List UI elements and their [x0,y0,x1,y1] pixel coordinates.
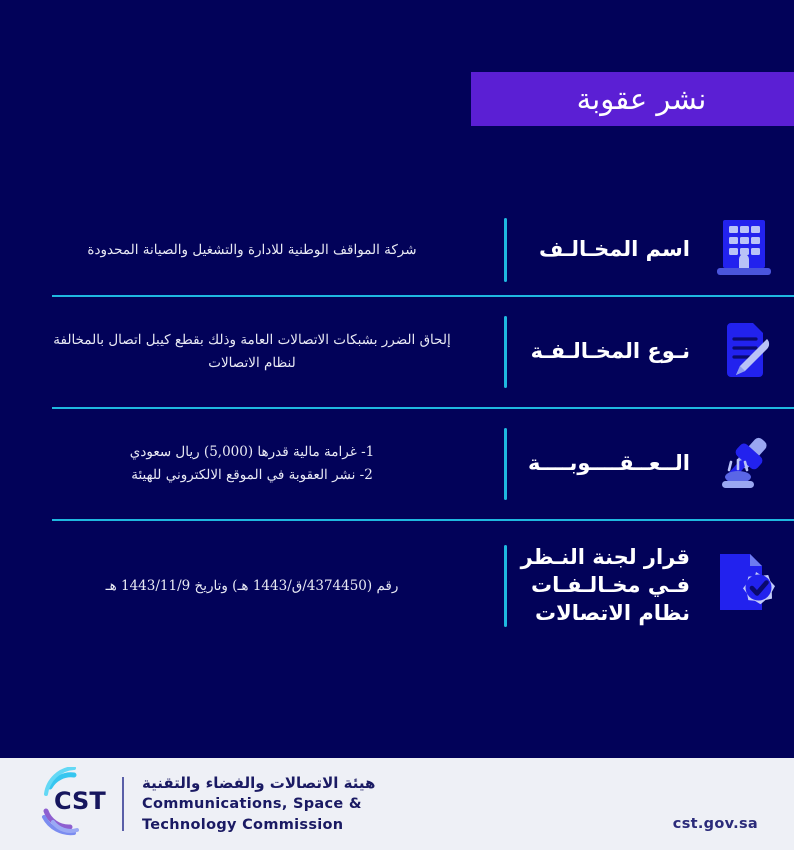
row-value-line: شركة المواقف الوطنية للادارة والتشغيل وا… [87,239,416,262]
row-value-line: 1- غرامة مالية قدرها (5,000) ريال سعودي [130,441,374,464]
title-banner: نشر عقوبة [471,72,794,126]
row-label-cell: قرار لجنة النـظر فـي مخـالـفـات نظام الا… [504,544,694,627]
row-value-cell: إلحاق الضرر بشبكات الاتصالات العامة وذلك… [0,329,504,375]
row-label: اسم المخـالـف [504,236,690,264]
row-value-cell: 1- غرامة مالية قدرها (5,000) ريال سعودي … [0,441,504,487]
table-row: اسم المخـالـف شركة المواقف الوطنية للادا… [0,205,794,295]
row-icon-cell [694,550,794,622]
row-value-line: لنظام الاتصالات [53,352,450,375]
table-row: الــعــقــــوبــــة 1- غرامة مالية قدرها… [0,409,794,519]
row-icon-cell [694,431,794,497]
row-label: قرار لجنة النـظر فـي مخـالـفـات نظام الا… [504,544,690,627]
row-label-cell: نـوع المخـالـفـة [504,338,694,366]
org-name-en-line1: Communications, Space & [142,794,375,815]
footer-logo: CST هيئة الاتصالات والفضاء والتقنية Comm… [30,767,375,841]
table-row: قرار لجنة النـظر فـي مخـالـفـات نظام الا… [0,521,794,651]
row-value-cell: شركة المواقف الوطنية للادارة والتشغيل وا… [0,239,504,262]
table-row: نـوع المخـالـفـة إلحاق الضرر بشبكات الات… [0,297,794,407]
detail-rows: اسم المخـالـف شركة المواقف الوطنية للادا… [0,205,794,653]
row-value-line: رقم (4374450/ق/1443 هـ) وتاريخ 1443/11/9… [106,575,399,598]
row-icon-cell [694,218,794,282]
cst-logo-text: CST [54,787,106,815]
row-label-cell: اسم المخـالـف [504,236,694,264]
penalty-poster: نشر عقوبة [0,0,794,850]
org-name-en-line2: Technology Commission [142,815,375,836]
org-name-ar: هيئة الاتصالات والفضاء والتقنية [142,773,375,795]
row-value-cell: رقم (4374450/ق/1443 هـ) وتاريخ 1443/11/9… [0,575,504,598]
row-label: نـوع المخـالـفـة [504,338,690,366]
footer-website-url[interactable]: cst.gov.sa [673,816,758,832]
footer-divider [122,777,124,831]
row-value: شركة المواقف الوطنية للادارة والتشغيل وا… [87,239,416,262]
label-divider [504,218,507,282]
row-value: رقم (4374450/ق/1443 هـ) وتاريخ 1443/11/9… [106,575,399,598]
row-label-cell: الــعــقــــوبــــة [504,450,694,478]
footer-bar: CST هيئة الاتصالات والفضاء والتقنية Comm… [0,755,794,850]
row-value-line: 2- نشر العقوبة في الموقع الالكتروني للهي… [130,464,374,487]
document-pen-icon [715,319,773,385]
row-value: 1- غرامة مالية قدرها (5,000) ريال سعودي … [130,441,374,487]
document-verified-icon [712,550,776,622]
gavel-icon [713,431,775,497]
page-title: نشر عقوبة [577,85,707,114]
footer-org-names: هيئة الاتصالات والفضاء والتقنية Communic… [142,773,375,836]
row-value-line: إلحاق الضرر بشبكات الاتصالات العامة وذلك… [53,329,450,352]
label-divider [504,545,507,627]
row-icon-cell [694,319,794,385]
building-icon [715,218,773,282]
row-label: الــعــقــــوبــــة [504,450,690,478]
cst-logo-icon: CST [30,767,108,841]
label-divider [504,428,507,500]
row-value: إلحاق الضرر بشبكات الاتصالات العامة وذلك… [53,329,450,375]
label-divider [504,316,507,388]
